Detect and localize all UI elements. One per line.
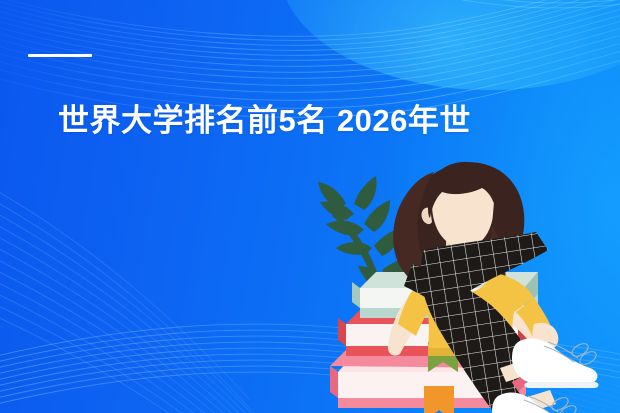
woman-sitting-on-books-illustration bbox=[312, 146, 620, 413]
accent-rule bbox=[28, 54, 92, 57]
page-title: 世界大学排名前5名 2026年世 bbox=[58, 101, 620, 141]
hero-illustration bbox=[312, 146, 620, 413]
university-ranking-banner: 世界大学排名前5名 2026年世 bbox=[0, 0, 620, 413]
